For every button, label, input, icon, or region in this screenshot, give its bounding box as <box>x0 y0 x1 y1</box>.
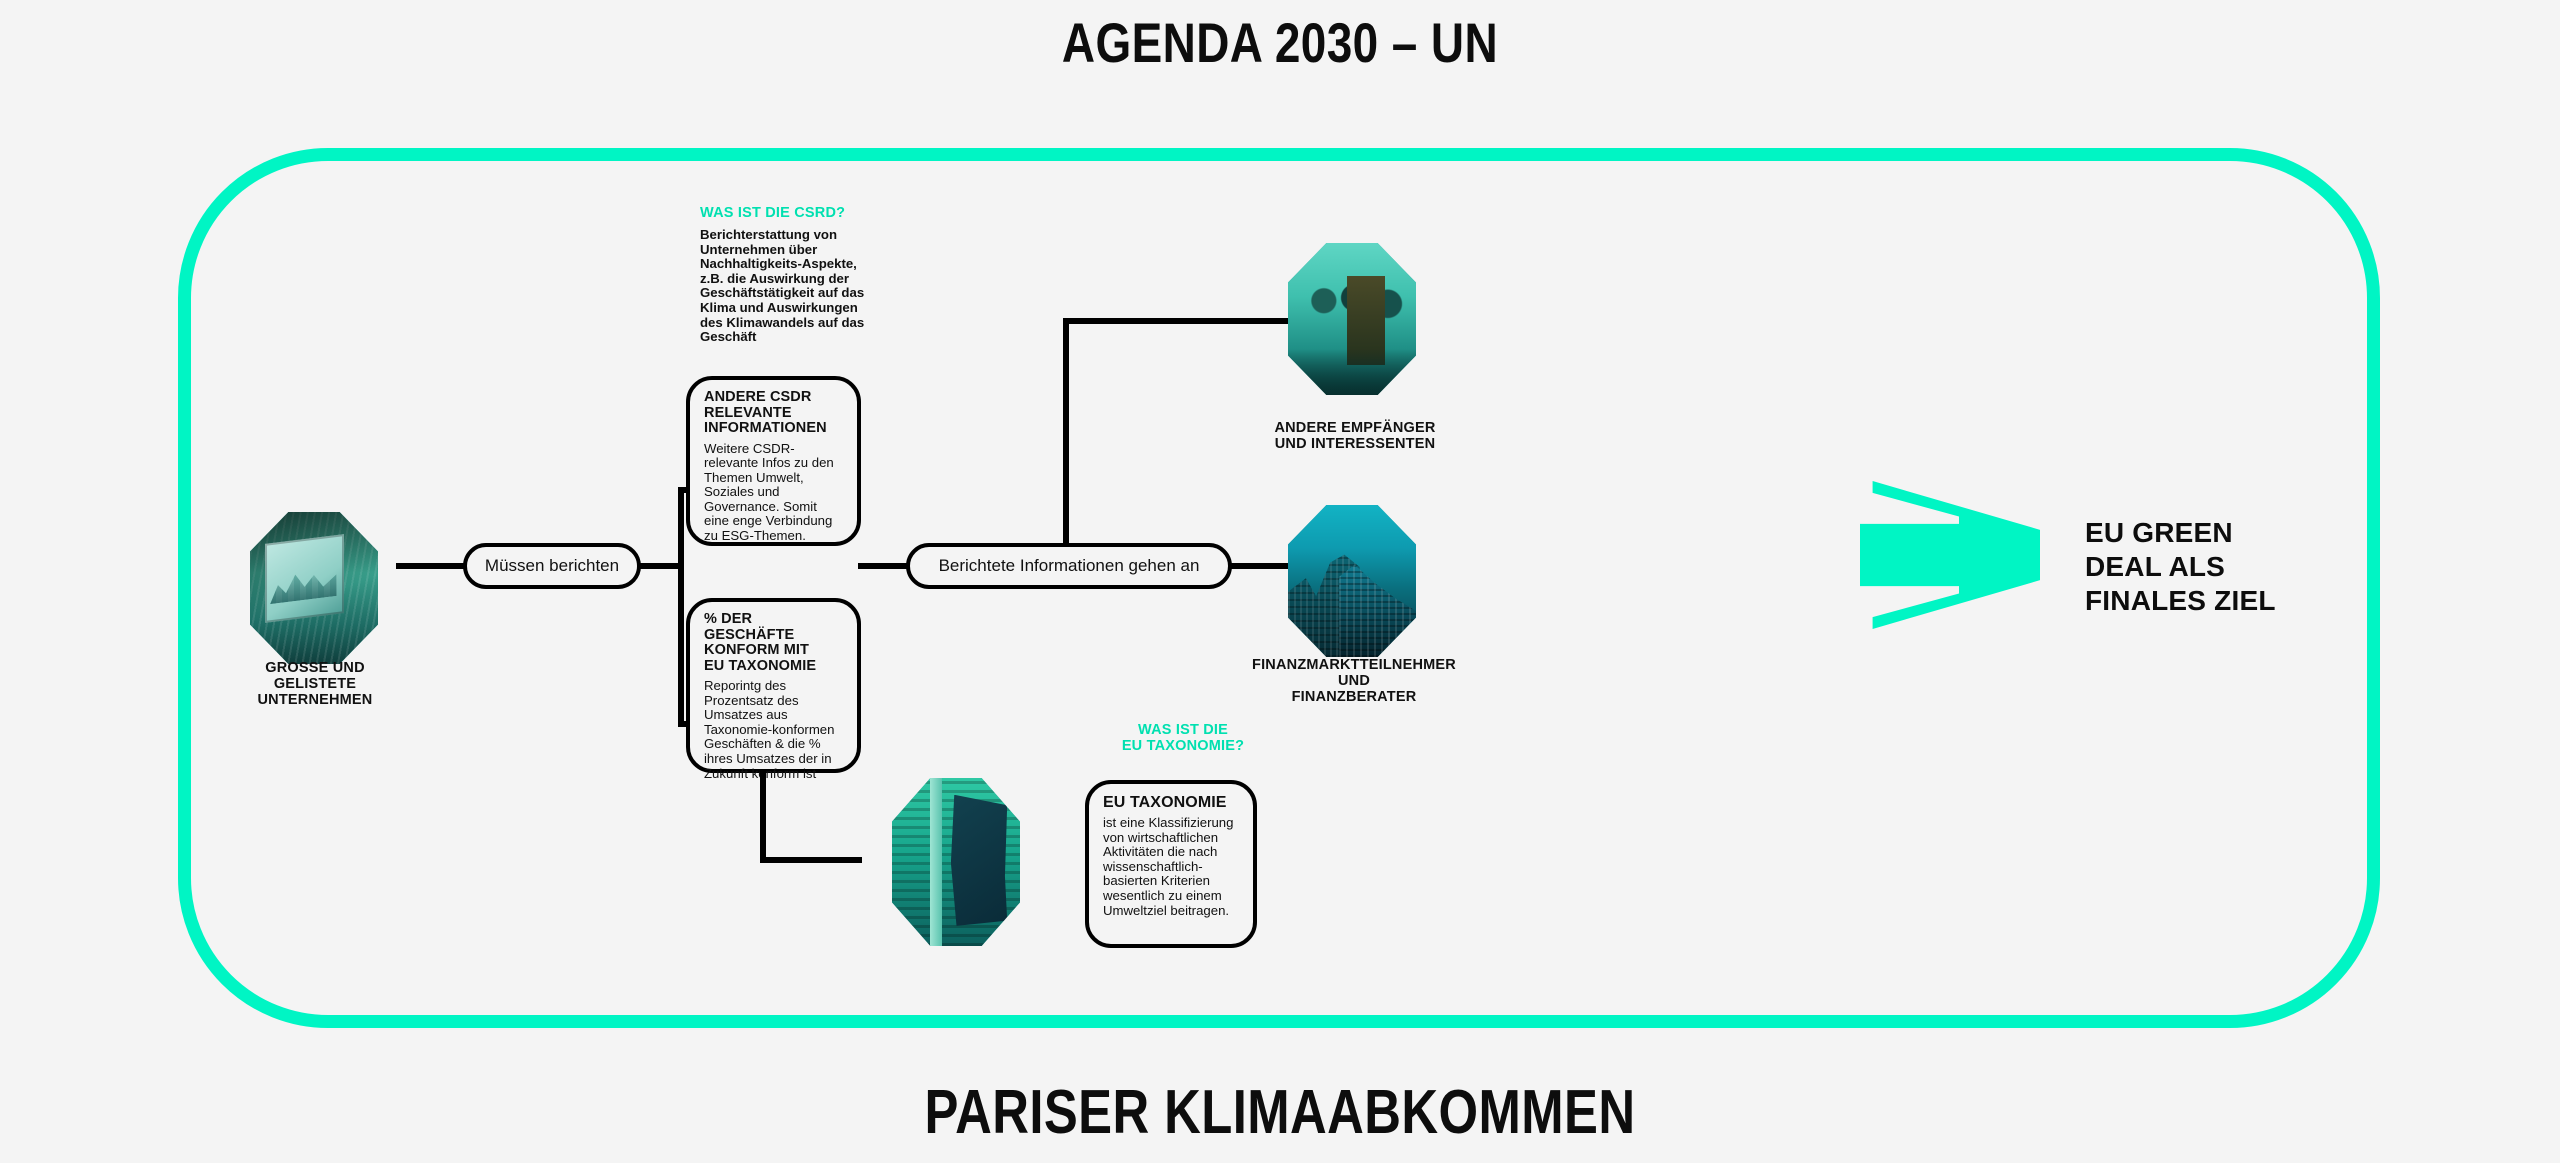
page-title-top: AGENDA 2030 – UN <box>230 12 2329 74</box>
pill-berichtete-informationen[interactable]: Berichtete Informationen gehen an <box>906 543 1232 589</box>
connector-vertical-to-recipients <box>1063 318 1069 546</box>
connector-prozent-down <box>760 771 766 863</box>
connector-mid-pill-to-recipient-2 <box>1230 563 1290 569</box>
box-andere-csdr-informationen: ANDERE CSDR RELEVANTE INFORMATIONEN Weit… <box>686 376 861 546</box>
large-listed-companies-caption: GROßE UND GELISTETE UNTERNEHMEN <box>230 660 400 708</box>
csrd-question-body: Berichterstattung von Unternehmen über N… <box>700 228 868 345</box>
page-title-bottom: PARISER KLIMAABKOMMEN <box>230 1078 2329 1148</box>
large-listed-companies-photo <box>250 512 378 664</box>
box-andere-csdr-title: ANDERE CSDR RELEVANTE INFORMATIONEN <box>704 390 845 437</box>
box-andere-csdr-body: Weitere CSDR-relevante Infos zu den Them… <box>704 442 845 544</box>
infographic-canvas: AGENDA 2030 – UN PARISER KLIMAABKOMMEN W… <box>0 0 2560 1163</box>
eu-taxonomie-question-heading: WAS IST DIE EU TAXONOMIE? <box>1108 722 1258 754</box>
box-eu-taxonomie-body: ist eine Klassifizierung von wirtschaftl… <box>1103 816 1241 918</box>
people-meeting-art <box>1288 243 1416 395</box>
eu-green-deal-final-label: EU GREEN DEAL ALS FINALES ZIEL <box>2085 516 2276 618</box>
box-prozent-title: % DER GESCHÄFTE KONFORM MIT EU TAXONOMIE <box>704 612 845 674</box>
box-eu-taxonomie: EU TAXONOMIE ist eine Klassifizierung vo… <box>1085 780 1257 948</box>
csrd-question-heading: WAS IST DIE CSRD? <box>700 205 870 221</box>
connector-source-to-pill <box>396 563 466 569</box>
skyscrapers-art <box>1288 505 1416 657</box>
connector-prozent-right <box>760 857 862 863</box>
laptop-dashboard-art <box>250 512 378 664</box>
eu-flag-building-art <box>892 778 1020 946</box>
andere-empfaenger-caption: ANDERE EMPFÄNGER UND INTERESSENTEN <box>1265 420 1445 452</box>
finanzmarkt-photo <box>1288 505 1416 657</box>
finanzmarkt-caption: FINANZMARKTTEILNEHMER UND FINANZBERATER <box>1248 657 1460 705</box>
connector-vertical-split <box>678 487 684 727</box>
andere-empfaenger-photo <box>1288 243 1416 395</box>
box-prozent-geschaefte-konform: % DER GESCHÄFTE KONFORM MIT EU TAXONOMIE… <box>686 598 861 773</box>
pill-muessen-berichten[interactable]: Müssen berichten <box>463 543 641 589</box>
box-prozent-body: Reporintg des Prozentsatz des Umsatzes a… <box>704 679 845 781</box>
eu-taxonomie-photo <box>892 778 1020 946</box>
connector-boxes-to-mid-pill <box>858 563 910 569</box>
box-eu-taxonomie-title: EU TAXONOMIE <box>1103 794 1241 812</box>
connector-horizontal-to-recipient-1 <box>1063 318 1288 324</box>
